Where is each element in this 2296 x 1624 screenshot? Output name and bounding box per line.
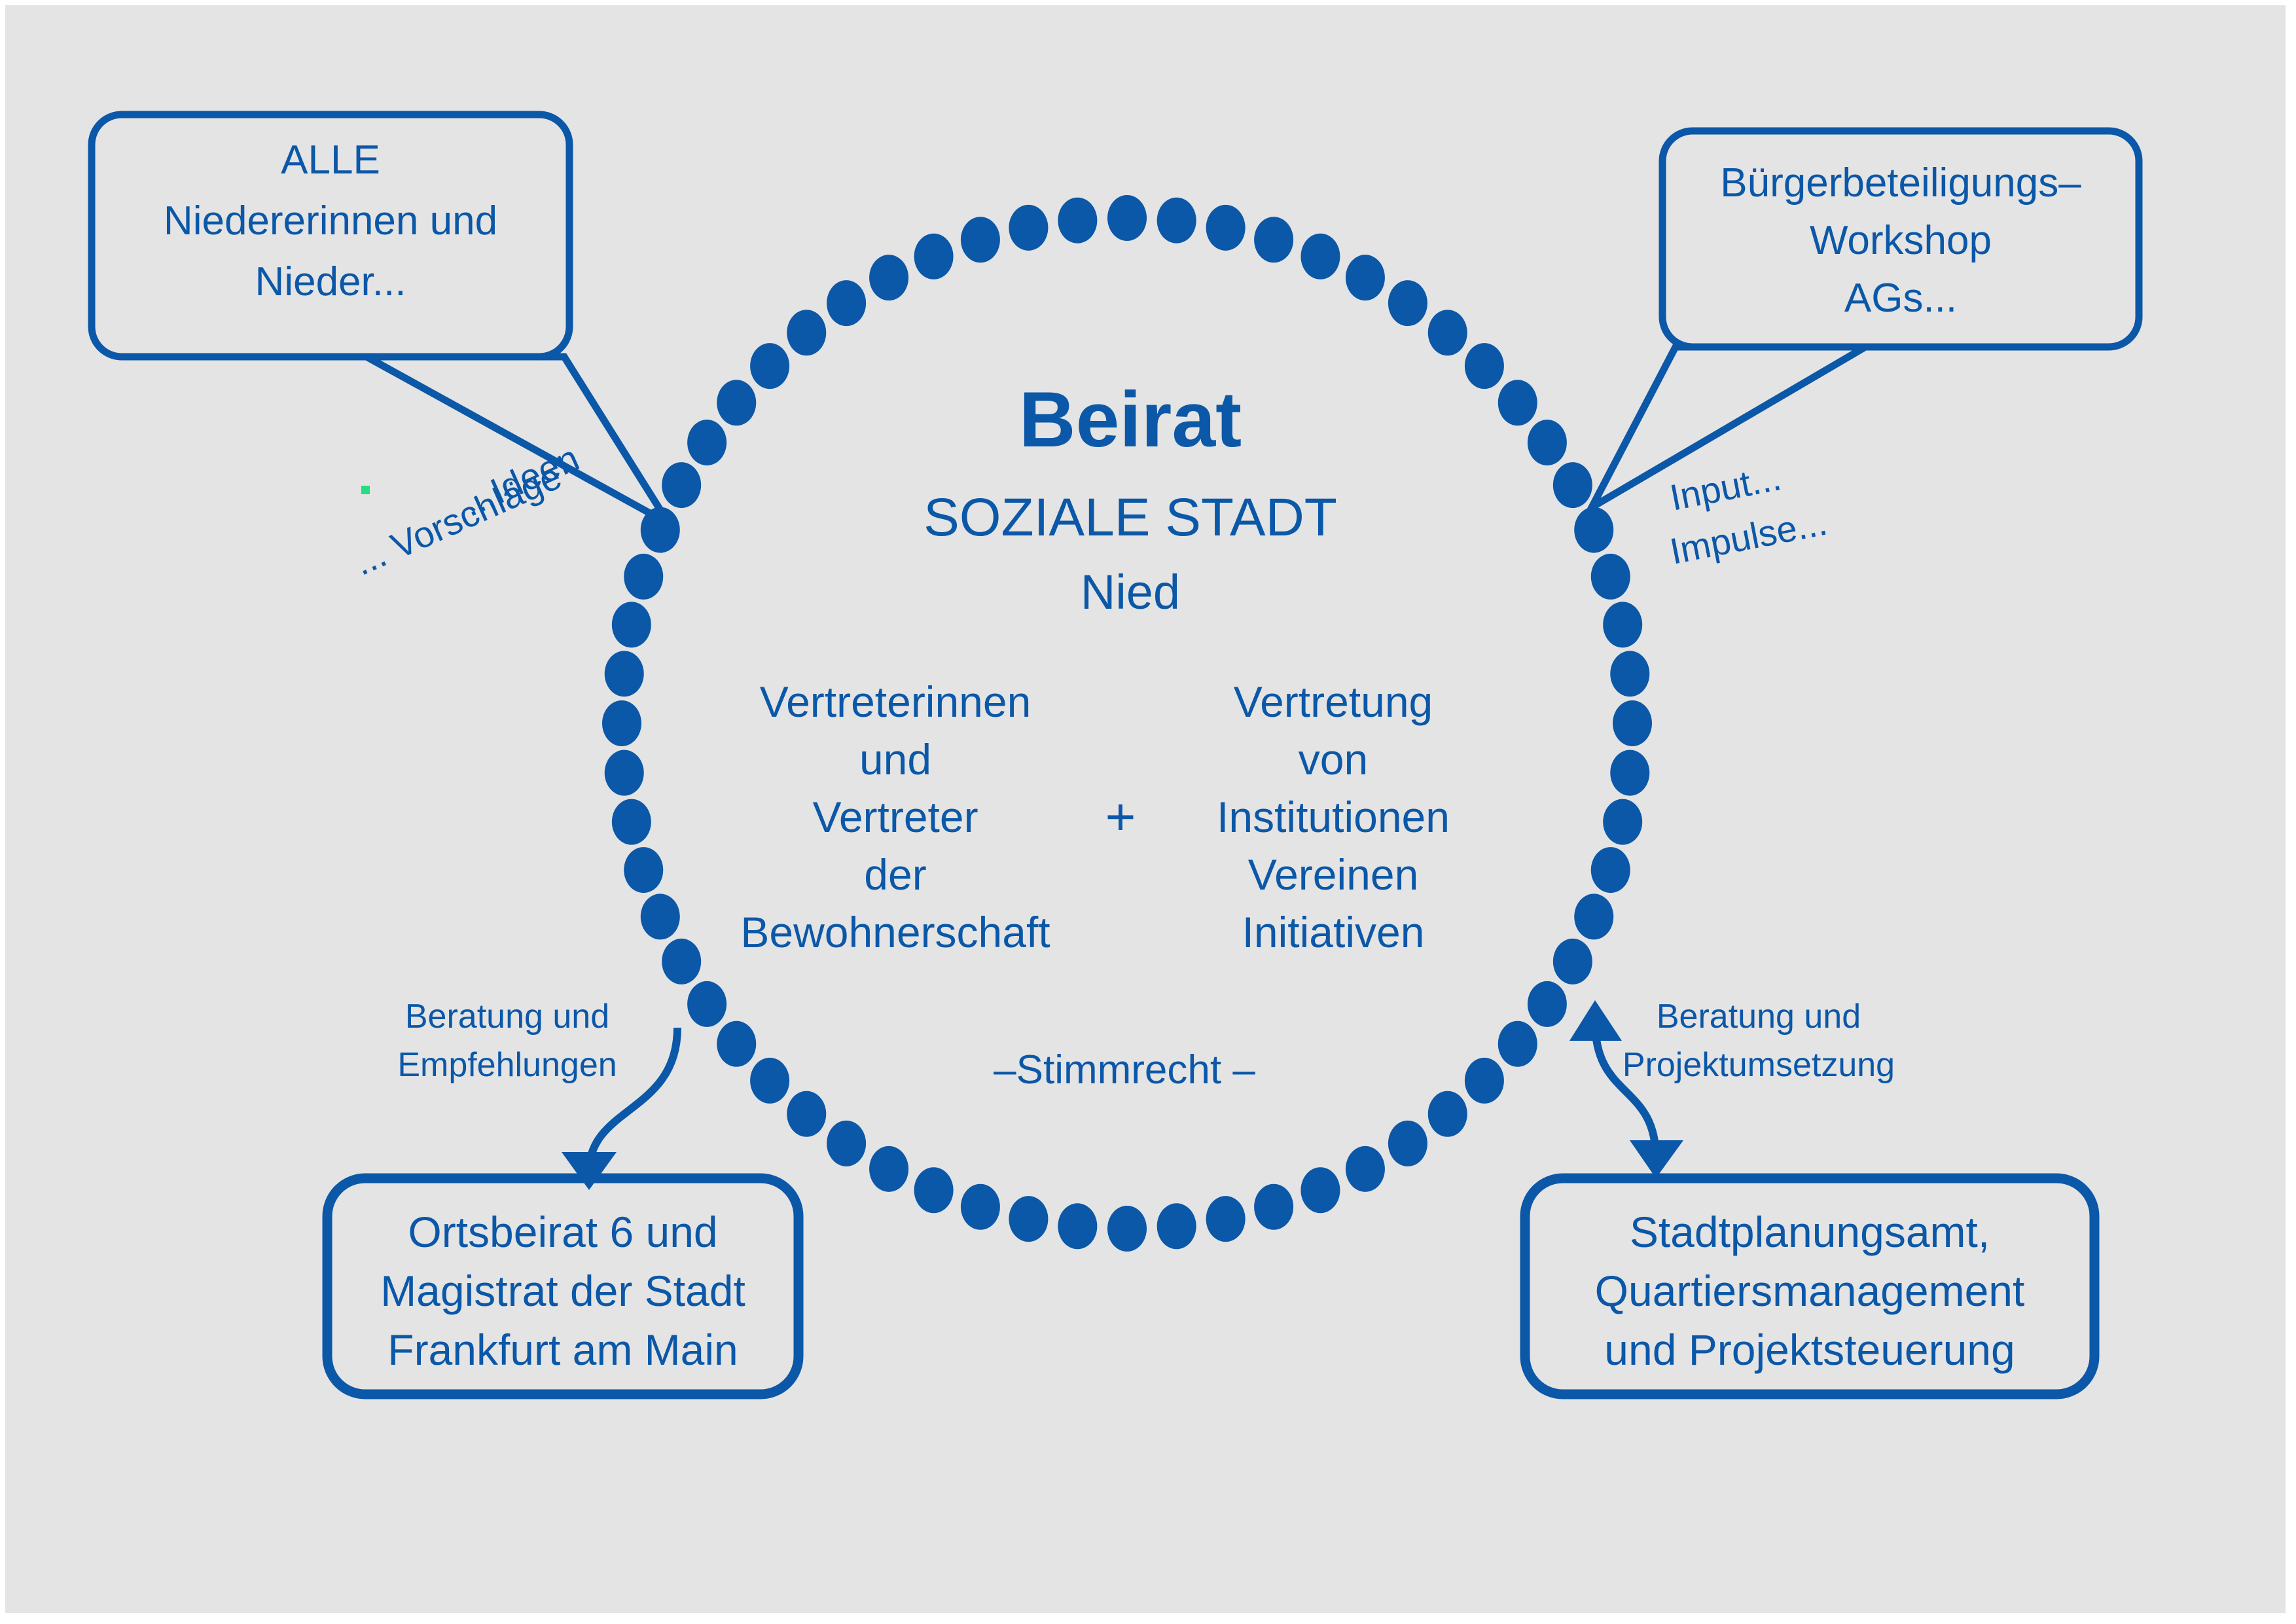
circle-dot	[1591, 554, 1630, 600]
bubble-left-line-2: Niedererinnen und	[164, 198, 497, 244]
circle-dot	[1603, 799, 1642, 845]
circle-dot	[641, 893, 680, 939]
circle-dot	[1465, 1058, 1504, 1104]
circle-dot	[914, 234, 954, 280]
circle-dot	[1498, 1021, 1537, 1067]
annotation-bl-line-2: Empfehlungen	[397, 1046, 617, 1084]
circle-dot	[717, 380, 756, 425]
circle-dot	[605, 750, 644, 796]
circle-dot	[961, 1184, 1000, 1230]
circle-dot	[1610, 750, 1649, 796]
circle-dot	[1157, 1203, 1196, 1249]
circle-dot	[1058, 1203, 1097, 1249]
beirat-diagram: ALLE Niedererinnen und Nieder... Bürgerb…	[0, 0, 2296, 1624]
right-col-line-4: Vereinen	[1248, 850, 1419, 899]
circle-dot	[869, 255, 908, 300]
circle-dot	[612, 602, 651, 647]
left-col-line-1: Vertreterinnen	[760, 677, 1031, 726]
circle-dot	[624, 847, 663, 893]
circle-dot	[750, 343, 789, 389]
circle-dot	[1346, 1146, 1385, 1192]
circle-dot	[1553, 939, 1592, 984]
circle-dot	[624, 554, 663, 600]
circle-dot	[1574, 893, 1613, 939]
circle-dot	[1254, 217, 1293, 262]
bubble-left-line-3: Nieder...	[255, 259, 406, 304]
circle-dot	[1107, 195, 1147, 241]
circle-dot	[1300, 234, 1340, 280]
circle-dot	[914, 1167, 954, 1213]
circle-dot	[961, 217, 1000, 262]
bubble-right-line-3: AGs...	[1844, 276, 1957, 321]
left-col-line-5: Bewohnerschaft	[740, 908, 1050, 956]
center-subtitle-1: SOZIALE STADT	[924, 488, 1337, 547]
circle-dot	[1206, 1196, 1246, 1242]
circle-dot	[1254, 1184, 1293, 1230]
circle-dot	[1603, 602, 1642, 647]
org-left-line-1: Ortsbeirat 6 und	[408, 1208, 717, 1256]
center-subtitle-2: Nied	[1081, 565, 1180, 619]
circle-dot	[1157, 198, 1196, 244]
circle-dot	[827, 280, 866, 326]
left-col-line-3: Vertreter	[812, 793, 978, 841]
diagram-stage: ALLE Niedererinnen und Nieder... Bürgerb…	[0, 0, 2296, 1624]
circle-dot	[1498, 380, 1537, 425]
circle-dot	[1591, 847, 1630, 893]
circle-dot	[612, 799, 651, 845]
circle-dot	[1428, 1091, 1467, 1137]
circle-dot	[1613, 700, 1652, 746]
circle-dot	[1009, 1196, 1048, 1242]
right-col-line-5: Initiativen	[1242, 908, 1425, 956]
circle-dot	[1058, 198, 1097, 244]
circle-dot	[787, 310, 826, 355]
circle-dot	[1528, 981, 1567, 1027]
circle-dot	[687, 420, 726, 465]
bubble-right-line-2: Workshop	[1810, 218, 1992, 263]
org-left-line-2: Magistrat der Stadt	[380, 1267, 745, 1315]
center-title: Beirat	[1019, 376, 1242, 463]
circle-dot	[1428, 310, 1467, 355]
circle-dot	[1388, 280, 1427, 326]
circle-dot	[750, 1058, 789, 1104]
bubble-left-line-1: ALLE	[281, 137, 380, 183]
green-speck-artifact	[361, 486, 370, 494]
circle-dot	[1553, 462, 1592, 508]
org-right-line-2: Quartiersmanagement	[1595, 1267, 2025, 1315]
org-right-line-3: und Projektsteuerung	[1604, 1326, 2015, 1374]
circle-dot	[1300, 1167, 1340, 1213]
circle-dot	[662, 939, 701, 984]
stimmrecht-note: –Stimmrecht –	[994, 1047, 1255, 1092]
circle-dot	[787, 1091, 826, 1137]
circle-dot	[1528, 420, 1567, 465]
circle-dot	[1388, 1121, 1427, 1166]
right-col-line-3: Institutionen	[1217, 793, 1450, 841]
right-col-line-1: Vertretung	[1234, 677, 1433, 726]
org-right-line-1: Stadtplanungsamt,	[1630, 1208, 1990, 1256]
annotation-br-line-1: Beratung und	[1657, 998, 1861, 1036]
circle-dot	[1107, 1206, 1147, 1252]
circle-dot	[827, 1121, 866, 1166]
circle-dot	[1465, 343, 1504, 389]
circle-dot	[687, 981, 726, 1027]
annotation-br-line-2: Projektumsetzung	[1623, 1046, 1895, 1084]
annotation-bl-line-1: Beratung und	[405, 998, 609, 1036]
bubble-right-line-1: Bürgerbeteiligungs–	[1720, 160, 2081, 206]
circle-dot	[1610, 651, 1649, 696]
circle-dot	[605, 651, 644, 696]
circle-dot	[717, 1021, 756, 1067]
left-col-line-2: und	[859, 735, 931, 784]
circle-dot	[869, 1146, 908, 1192]
circle-dot	[1574, 507, 1613, 553]
circle-dot	[662, 462, 701, 508]
left-col-line-4: der	[864, 850, 926, 899]
org-left-line-3: Frankfurt am Main	[387, 1326, 738, 1374]
circle-dot	[602, 700, 641, 746]
circle-dot	[1346, 255, 1385, 300]
right-col-line-2: von	[1299, 735, 1368, 784]
circle-dot	[1009, 205, 1048, 251]
plus-sign: +	[1105, 787, 1136, 846]
circle-dot	[1206, 205, 1246, 251]
